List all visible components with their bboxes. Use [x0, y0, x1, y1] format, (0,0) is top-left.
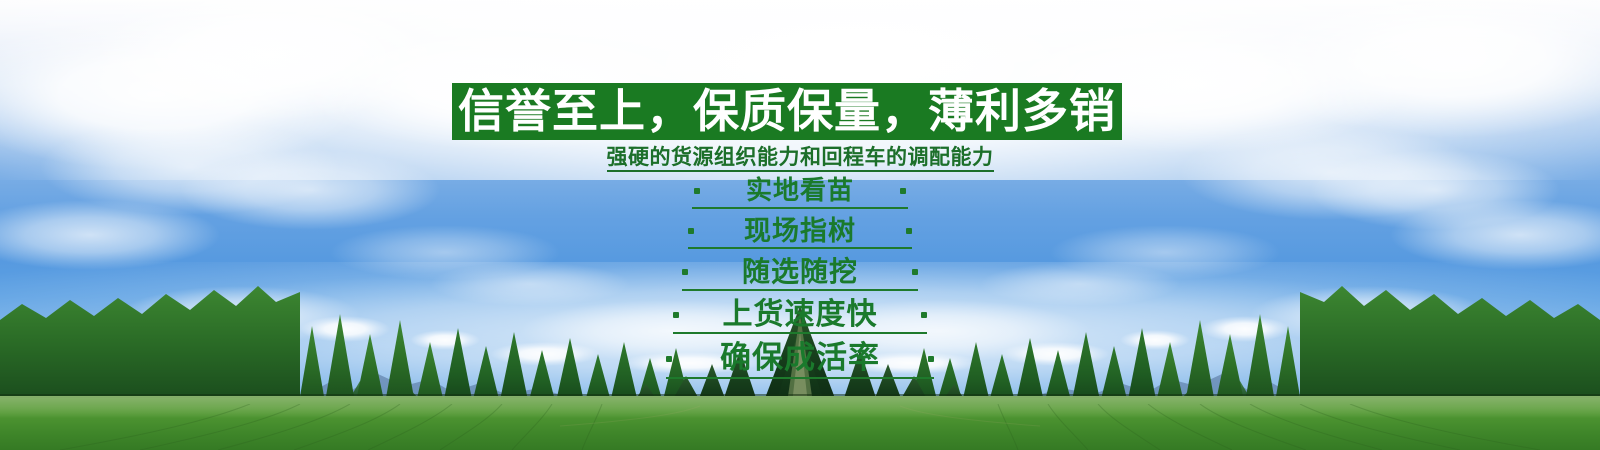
banner-text-content: 信誉至上，保质保量，薄利多销 强硬的货源组织能力和回程车的调配能力 实地看苗 现… [0, 0, 1600, 450]
list-item: 实地看苗 [0, 178, 1600, 209]
bullet-dot-icon [682, 269, 688, 275]
list-item-label: 随选随挖 [742, 258, 858, 287]
list-item-label: 现场指树 [744, 218, 856, 246]
list-item-label: 实地看苗 [746, 178, 854, 205]
list-item: 现场指树 [0, 218, 1600, 250]
bullet-dot-icon [694, 188, 700, 194]
selling-points-list: 实地看苗 现场指树 随选随挖 [0, 178, 1600, 379]
list-item: 确保成活率 [0, 343, 1600, 379]
headline-text: 信誉至上，保质保量，薄利多销 [458, 88, 1116, 134]
bullet-dot-icon [906, 228, 912, 234]
bullet-dot-icon [928, 356, 934, 362]
list-item-label: 确保成活率 [720, 343, 880, 375]
list-item-label: 上货速度快 [723, 300, 878, 331]
bullet-dot-icon [666, 356, 672, 362]
list-item: 随选随挖 [0, 258, 1600, 291]
subtitle-row: 强硬的货源组织能力和回程车的调配能力 [0, 145, 1600, 172]
bullet-dot-icon [673, 312, 679, 318]
bullet-dot-icon [912, 269, 918, 275]
headline-banner: 信誉至上，保质保量，薄利多销 [452, 83, 1122, 140]
list-item: 上货速度快 [0, 300, 1600, 335]
bullet-dot-icon [688, 228, 694, 234]
bullet-dot-icon [921, 312, 927, 318]
subtitle-text: 强硬的货源组织能力和回程车的调配能力 [607, 145, 994, 172]
bullet-dot-icon [900, 188, 906, 194]
promotional-banner: 信誉至上，保质保量，薄利多销 强硬的货源组织能力和回程车的调配能力 实地看苗 现… [0, 0, 1600, 450]
